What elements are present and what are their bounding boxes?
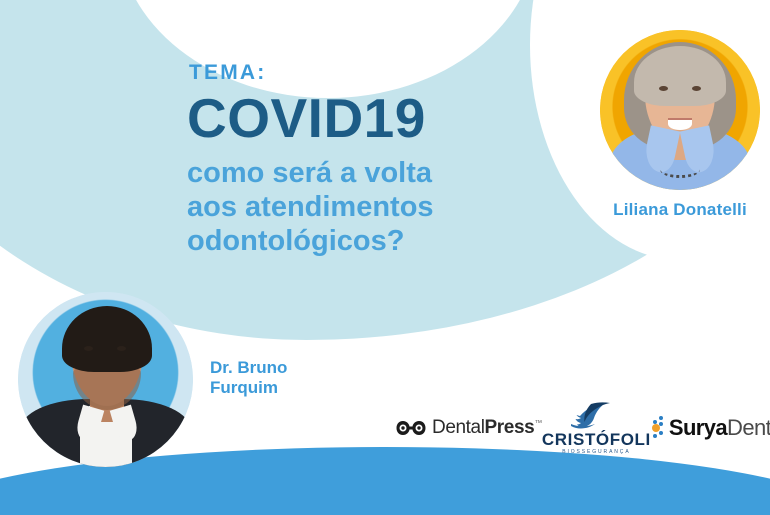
logo-cristofoli-text: CRISTÓFOLI	[542, 431, 651, 448]
logo-dentalpress-text-bold: Press	[485, 417, 535, 438]
headline-block: TEMA: COVID19 como será a volta aos aten…	[187, 62, 517, 259]
speaker-name-bruno-line-2: Furquim	[210, 378, 287, 398]
logo-suryadental-text-light: Dental	[727, 415, 770, 440]
logo-dentalpress-text-light: Dental	[432, 417, 485, 438]
cristofoli-swoosh-icon	[569, 401, 623, 429]
sponsor-logos: DentalPress™ CRISTÓFOLI BIOSSEGURANÇA Su…	[396, 400, 766, 456]
portrait-eye-right	[117, 346, 126, 351]
eyebrow-label: TEMA:	[189, 62, 517, 83]
portrait-eye-left	[659, 86, 668, 91]
portrait-necklace	[660, 161, 700, 178]
logo-suryadental-text-bold: Surya	[669, 415, 727, 440]
logo-dentalpress-text: DentalPress™	[432, 417, 542, 439]
speaker-name-bruno: Dr. Bruno Furquim	[210, 358, 287, 399]
promo-poster: TEMA: COVID19 como será a volta aos aten…	[0, 0, 770, 515]
dentalpress-glasses-icon	[396, 419, 426, 437]
logo-suryadental-text: SuryaDental	[669, 415, 770, 441]
logo-suryadental[interactable]: SuryaDental	[651, 415, 770, 441]
logo-cristofoli[interactable]: CRISTÓFOLI BIOSSEGURANÇA	[542, 401, 651, 455]
logo-dentalpress[interactable]: DentalPress™	[396, 417, 542, 439]
logo-cristofoli-subtitle: BIOSSEGURANÇA	[542, 450, 651, 455]
speaker-name-liliana: Liliana Donatelli	[600, 200, 760, 220]
subtitle-line-2: aos atendimentos	[187, 190, 517, 224]
speaker-bruno	[18, 292, 193, 472]
portrait-eye-left	[84, 346, 93, 351]
portrait-smile	[668, 118, 692, 130]
logo-dentalpress-trademark: ™	[534, 419, 542, 428]
surya-dots-icon	[651, 415, 665, 441]
subtitle-line-1: como será a volta	[187, 156, 517, 190]
avatar	[18, 292, 193, 467]
speaker-liliana: Liliana Donatelli	[600, 30, 760, 220]
avatar	[600, 30, 760, 190]
portrait-eye-right	[692, 86, 701, 91]
speaker-name-bruno-line-1: Dr. Bruno	[210, 358, 287, 378]
subtitle-line-3: odontológicos?	[187, 224, 517, 258]
page-title: COVID19	[187, 91, 517, 146]
subtitle-block: como será a volta aos atendimentos odont…	[187, 156, 517, 259]
